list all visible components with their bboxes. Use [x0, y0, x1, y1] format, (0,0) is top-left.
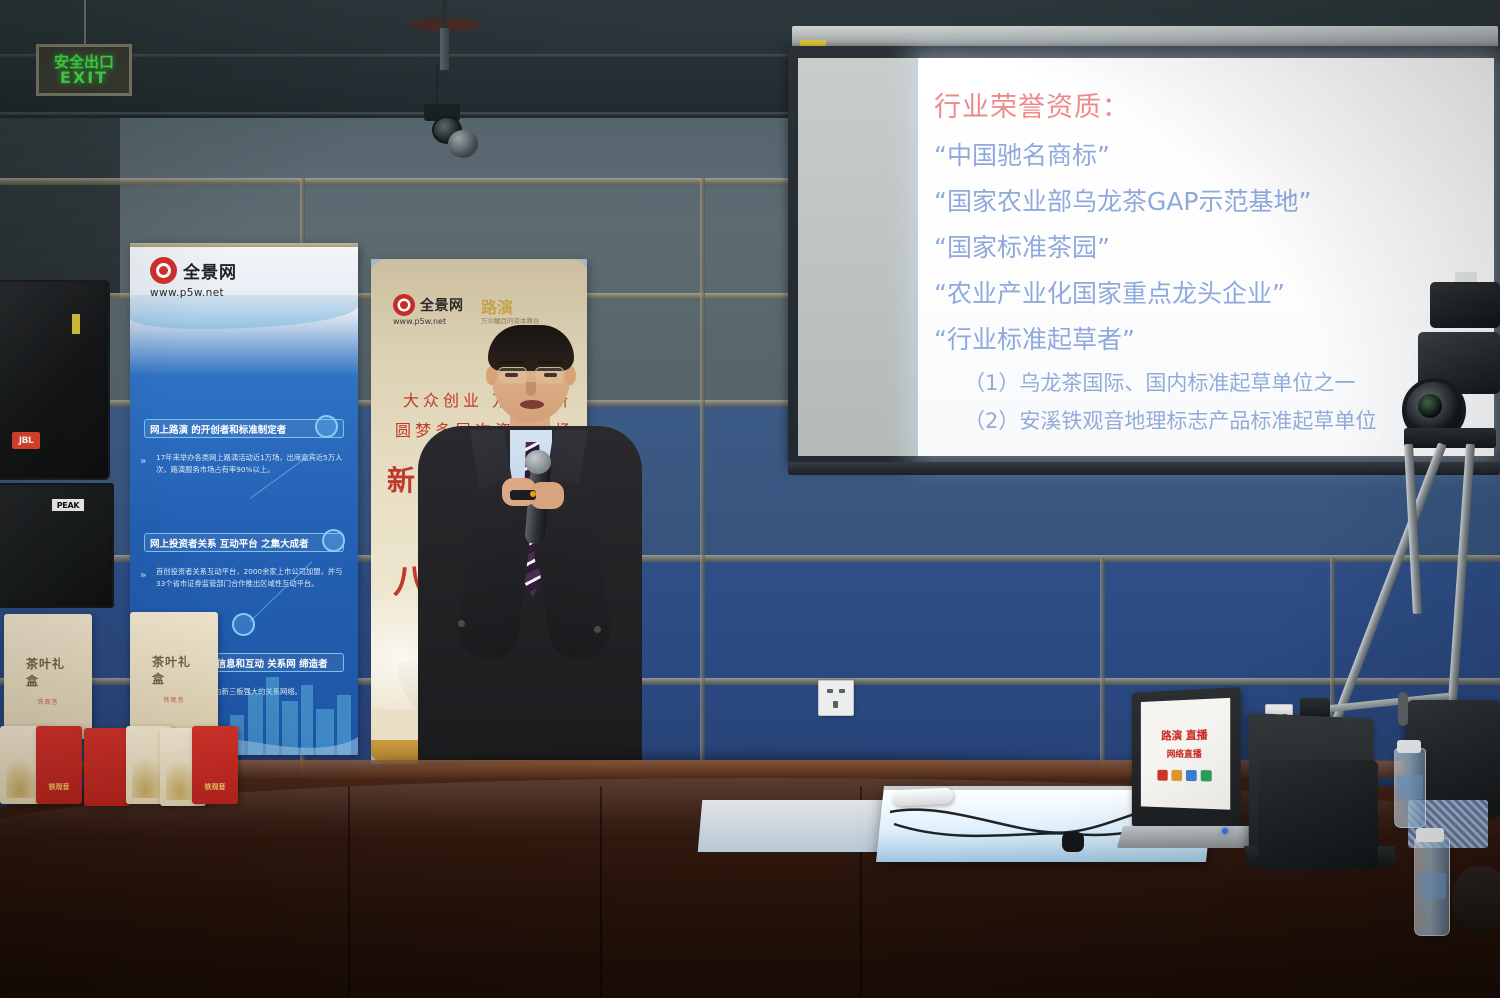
projection-screen-bottom-bar — [788, 462, 1500, 475]
slide-title: 行业荣誉资质： — [934, 94, 1494, 121]
sign-icon — [1201, 770, 1212, 781]
exit-sign-hanger — [84, 0, 86, 46]
gift-box-label: 茶叶礼盒 — [26, 655, 70, 689]
gift-box-front-label: 铁观音 — [205, 782, 226, 792]
peak-logo: PEAK — [52, 499, 84, 511]
glasses-icon — [498, 367, 527, 384]
gift-box-back: 茶叶礼盒 铁观音 — [4, 614, 92, 739]
peak-speaker: PEAK — [0, 483, 114, 608]
p5w-logo-icon — [393, 294, 415, 316]
chevron-right-icon: » — [140, 570, 146, 581]
slide-line: “中国驰名商标” — [934, 143, 1494, 168]
presenter — [418, 330, 642, 780]
glasses-icon — [535, 367, 564, 384]
desk-glossy-panel — [698, 800, 903, 852]
banner-right-second-brand-sub: 万众瞩目的资本舞台 — [481, 315, 540, 325]
banner-left-headline: 网上投资者关系 互动平台 之集大成者 — [144, 533, 344, 552]
banner-node-icon — [315, 415, 338, 438]
water-bottle — [1394, 748, 1426, 828]
tripod-head — [1404, 428, 1496, 448]
cable-junction — [1062, 832, 1084, 852]
banner-left-body: 首创投资者关系互动平台，2000余家上市公司加盟，并与33个省市证券监管部门合作… — [156, 566, 348, 590]
gift-box-front-label: 铁观音 — [49, 782, 70, 792]
microphone-head-icon — [525, 450, 551, 474]
laptop-sign: 路演 直播 网络直播 — [1141, 698, 1230, 810]
slide-line: “国家标准茶园” — [934, 235, 1494, 260]
exit-sign-frame: 安全出口 EXIT — [36, 44, 132, 96]
banner-right-url: www.p5w.net — [393, 317, 446, 326]
laptop-with-sign[interactable]: 路演 直播 网络直播 — [1132, 687, 1241, 833]
banner-left-url: www.p5w.net — [150, 287, 224, 299]
laptop-power-led-icon — [1222, 828, 1228, 834]
gift-box-label: 茶叶礼盒 — [152, 653, 196, 687]
exit-sign-english-label: EXIT — [60, 70, 108, 86]
banner-node-icon — [232, 613, 255, 636]
jbl-logo: JBL — [12, 432, 40, 449]
laptop-sign-line-1: 路演 直播 — [1161, 726, 1207, 743]
slide-line: “行业标准起草者” — [934, 327, 1494, 352]
presenter-hair — [488, 325, 574, 371]
wall-socket[interactable] — [818, 680, 854, 716]
gift-box-front — [84, 728, 130, 806]
p5w-logo-icon — [150, 257, 177, 284]
jbl-speaker: JBL — [0, 280, 110, 480]
seated-person — [1452, 866, 1500, 932]
exit-sign: 安全出口 EXIT — [36, 44, 132, 96]
bottle-cap — [1397, 740, 1421, 753]
sign-icon — [1172, 770, 1183, 781]
banner-right-logo: 全景网 — [393, 294, 464, 316]
water-bottle — [1414, 838, 1450, 936]
gift-box-back: 茶叶礼盒 铁观音 — [130, 612, 218, 737]
gift-box-sublabel: 铁观音 — [163, 695, 184, 704]
screen-unlit-margin — [798, 58, 918, 456]
banner-left-logo: 全景网 — [150, 257, 237, 284]
gift-box-front: 铁观音 — [36, 726, 82, 804]
banner-left-body: 17年来举办各类网上路演活动近1万场，出席嘉宾近5万人次，路演服务市场占有率90… — [156, 452, 348, 476]
banner-left-brand: 全景网 — [183, 258, 237, 283]
conference-room-photo: 安全出口 EXIT JBL PEAK 行业荣誉资质： “中国驰名商标” “国家农… — [0, 0, 1500, 998]
slide-line: “农业产业化国家重点龙头企业” — [934, 281, 1494, 306]
bottle-cap — [1416, 828, 1444, 842]
sign-icon — [1186, 770, 1197, 781]
gift-box-front: 铁观音 — [192, 726, 238, 804]
gift-box-sublabel: 铁观音 — [37, 697, 58, 706]
laptop-sign-line-2: 网络直播 — [1167, 747, 1202, 760]
banner-node-icon — [322, 529, 345, 552]
sign-icon — [1157, 770, 1167, 781]
banner-right-brand: 全景网 — [420, 295, 464, 315]
office-chair — [1258, 760, 1378, 870]
slide-line: “国家农业部乌龙茶GAP示范基地” — [934, 189, 1494, 214]
banner-left-headline: 网上路演 的开创者和标准制定者 — [144, 419, 344, 438]
chevron-right-icon: » — [140, 456, 146, 467]
